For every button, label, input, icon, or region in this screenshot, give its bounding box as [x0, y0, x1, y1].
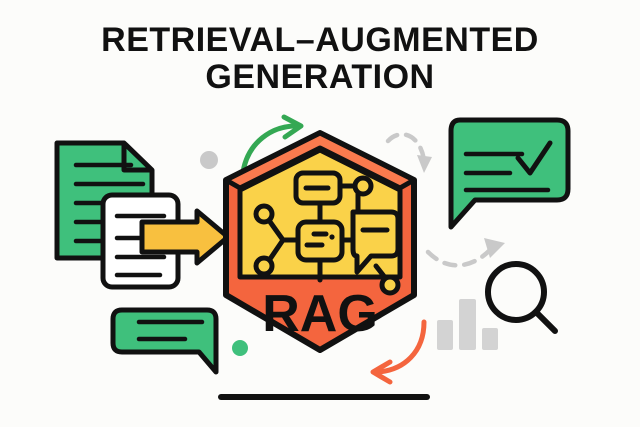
rag-diagram-artwork: RAG — [0, 0, 640, 427]
illustration-canvas: RETRIEVAL–AUGMENTED GENERATION — [0, 0, 640, 427]
rag-label: RAG — [262, 285, 378, 343]
query-bubble — [113, 310, 216, 372]
magnifier-icon — [488, 264, 555, 331]
green-dot — [232, 340, 248, 356]
rag-hexagon-badge: RAG — [226, 133, 414, 350]
answer-bubble — [451, 120, 568, 227]
gray-dot — [200, 151, 218, 169]
dashed-arc-bottom — [428, 238, 505, 265]
orange-curved-arrow — [373, 322, 424, 382]
